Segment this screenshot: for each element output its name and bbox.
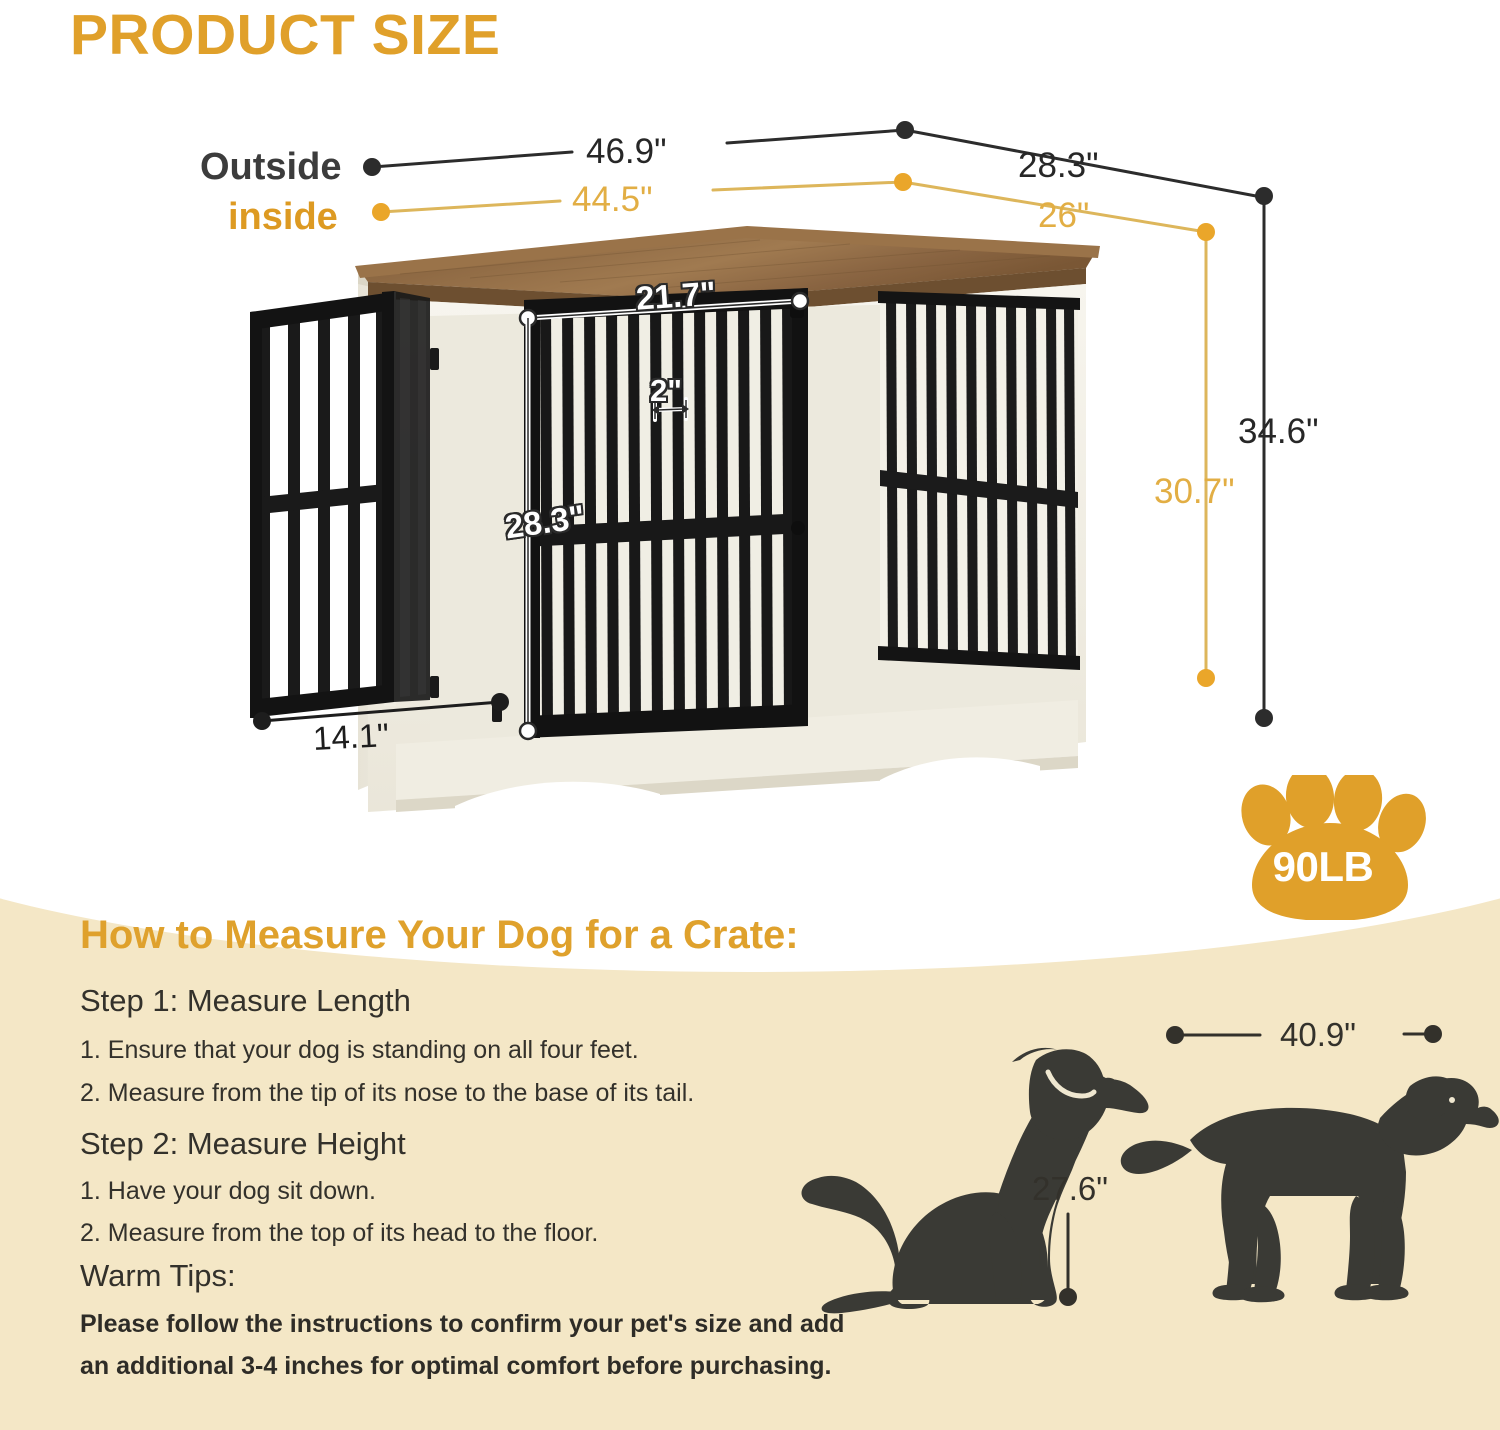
step-2-line-1: 1. Have your dog sit down. (80, 1177, 376, 1206)
step-2-line-2: 2. Measure from the top of its head to t… (80, 1219, 598, 1248)
dog-height-label: 27.6" (1032, 1170, 1108, 1208)
dog-eye-highlight (1449, 1097, 1455, 1103)
legend-outside-label: Outside (200, 146, 341, 189)
outside-depth-label: 28.3" (1018, 146, 1099, 186)
outside-width-label: 46.9" (586, 132, 667, 172)
warm-tips-heading: Warm Tips: (80, 1258, 236, 1294)
dog-measurement-diagram (800, 1000, 1500, 1360)
step-1-line-1: 1. Ensure that your dog is standing on a… (80, 1036, 639, 1065)
warm-tips-line-2: an additional 3-4 inches for optimal com… (80, 1352, 832, 1381)
inside-width-label: 44.5" (572, 180, 653, 220)
step-1-line-2: 2. Measure from the tip of its nose to t… (80, 1079, 694, 1108)
dog-length-label: 40.9" (1280, 1016, 1356, 1054)
inside-depth-label: 26" (1038, 196, 1089, 236)
weight-capacity-label: 90LB (1243, 843, 1403, 891)
legend-inside-label: inside (228, 196, 338, 239)
page-title: PRODUCT SIZE (70, 2, 500, 68)
step-2-heading: Step 2: Measure Height (80, 1126, 406, 1162)
inside-height-label: 30.7" (1154, 472, 1235, 512)
side-door-depth-label: 14.1" (312, 716, 390, 758)
warm-tips-line-1: Please follow the instructions to confir… (80, 1310, 844, 1339)
outside-height-label: 34.6" (1238, 412, 1319, 452)
door-width-label: 21.7" (635, 274, 717, 317)
bar-spacing-label: 2" (650, 373, 682, 409)
standing-dog-silhouette (1121, 1076, 1499, 1302)
step-1-heading: Step 1: Measure Length (80, 983, 411, 1019)
measure-guide-title: How to Measure Your Dog for a Crate: (80, 913, 799, 958)
